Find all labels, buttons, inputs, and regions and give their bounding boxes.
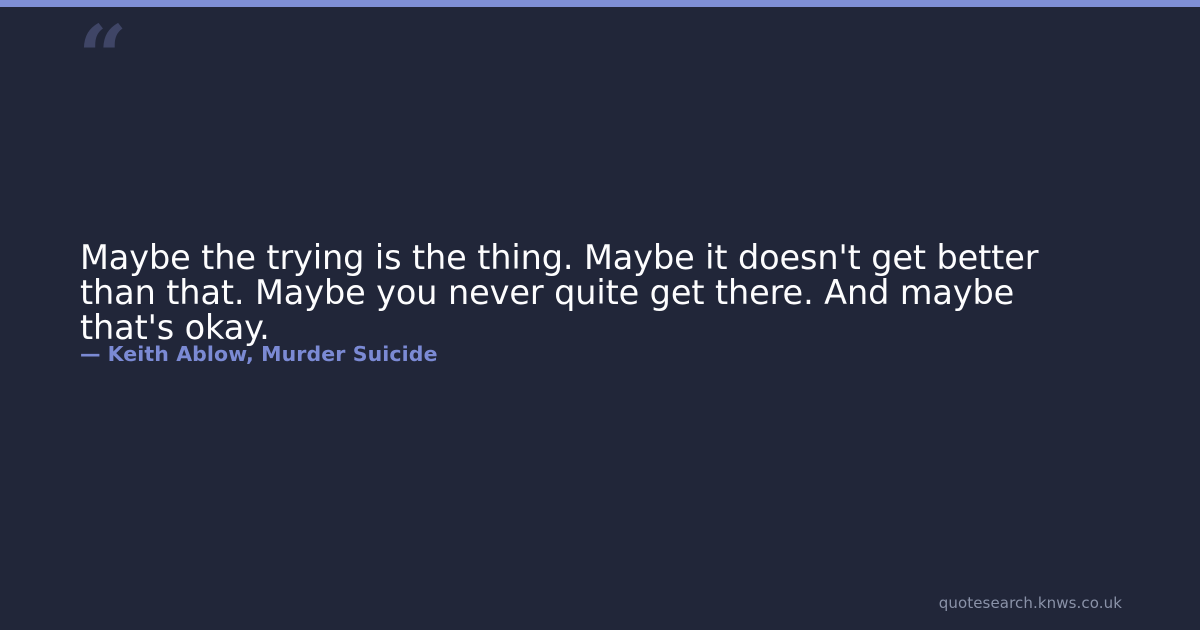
quote-content: “ Maybe the trying is the thing. Maybe i… (0, 7, 1200, 630)
quote-block: Maybe the trying is the thing. Maybe it … (80, 240, 1100, 345)
attribution-dash: — (80, 342, 101, 366)
quote-card: “ Maybe the trying is the thing. Maybe i… (0, 0, 1200, 630)
quote-attribution: —Keith Ablow, Murder Suicide (80, 342, 438, 366)
site-url-footer: quotesearch.knws.co.uk (939, 594, 1122, 612)
attribution-label: Keith Ablow, Murder Suicide (108, 342, 438, 366)
top-accent-bar (0, 0, 1200, 7)
quotation-mark-icon: “ (78, 15, 125, 101)
quote-text: Maybe the trying is the thing. Maybe it … (80, 240, 1100, 345)
